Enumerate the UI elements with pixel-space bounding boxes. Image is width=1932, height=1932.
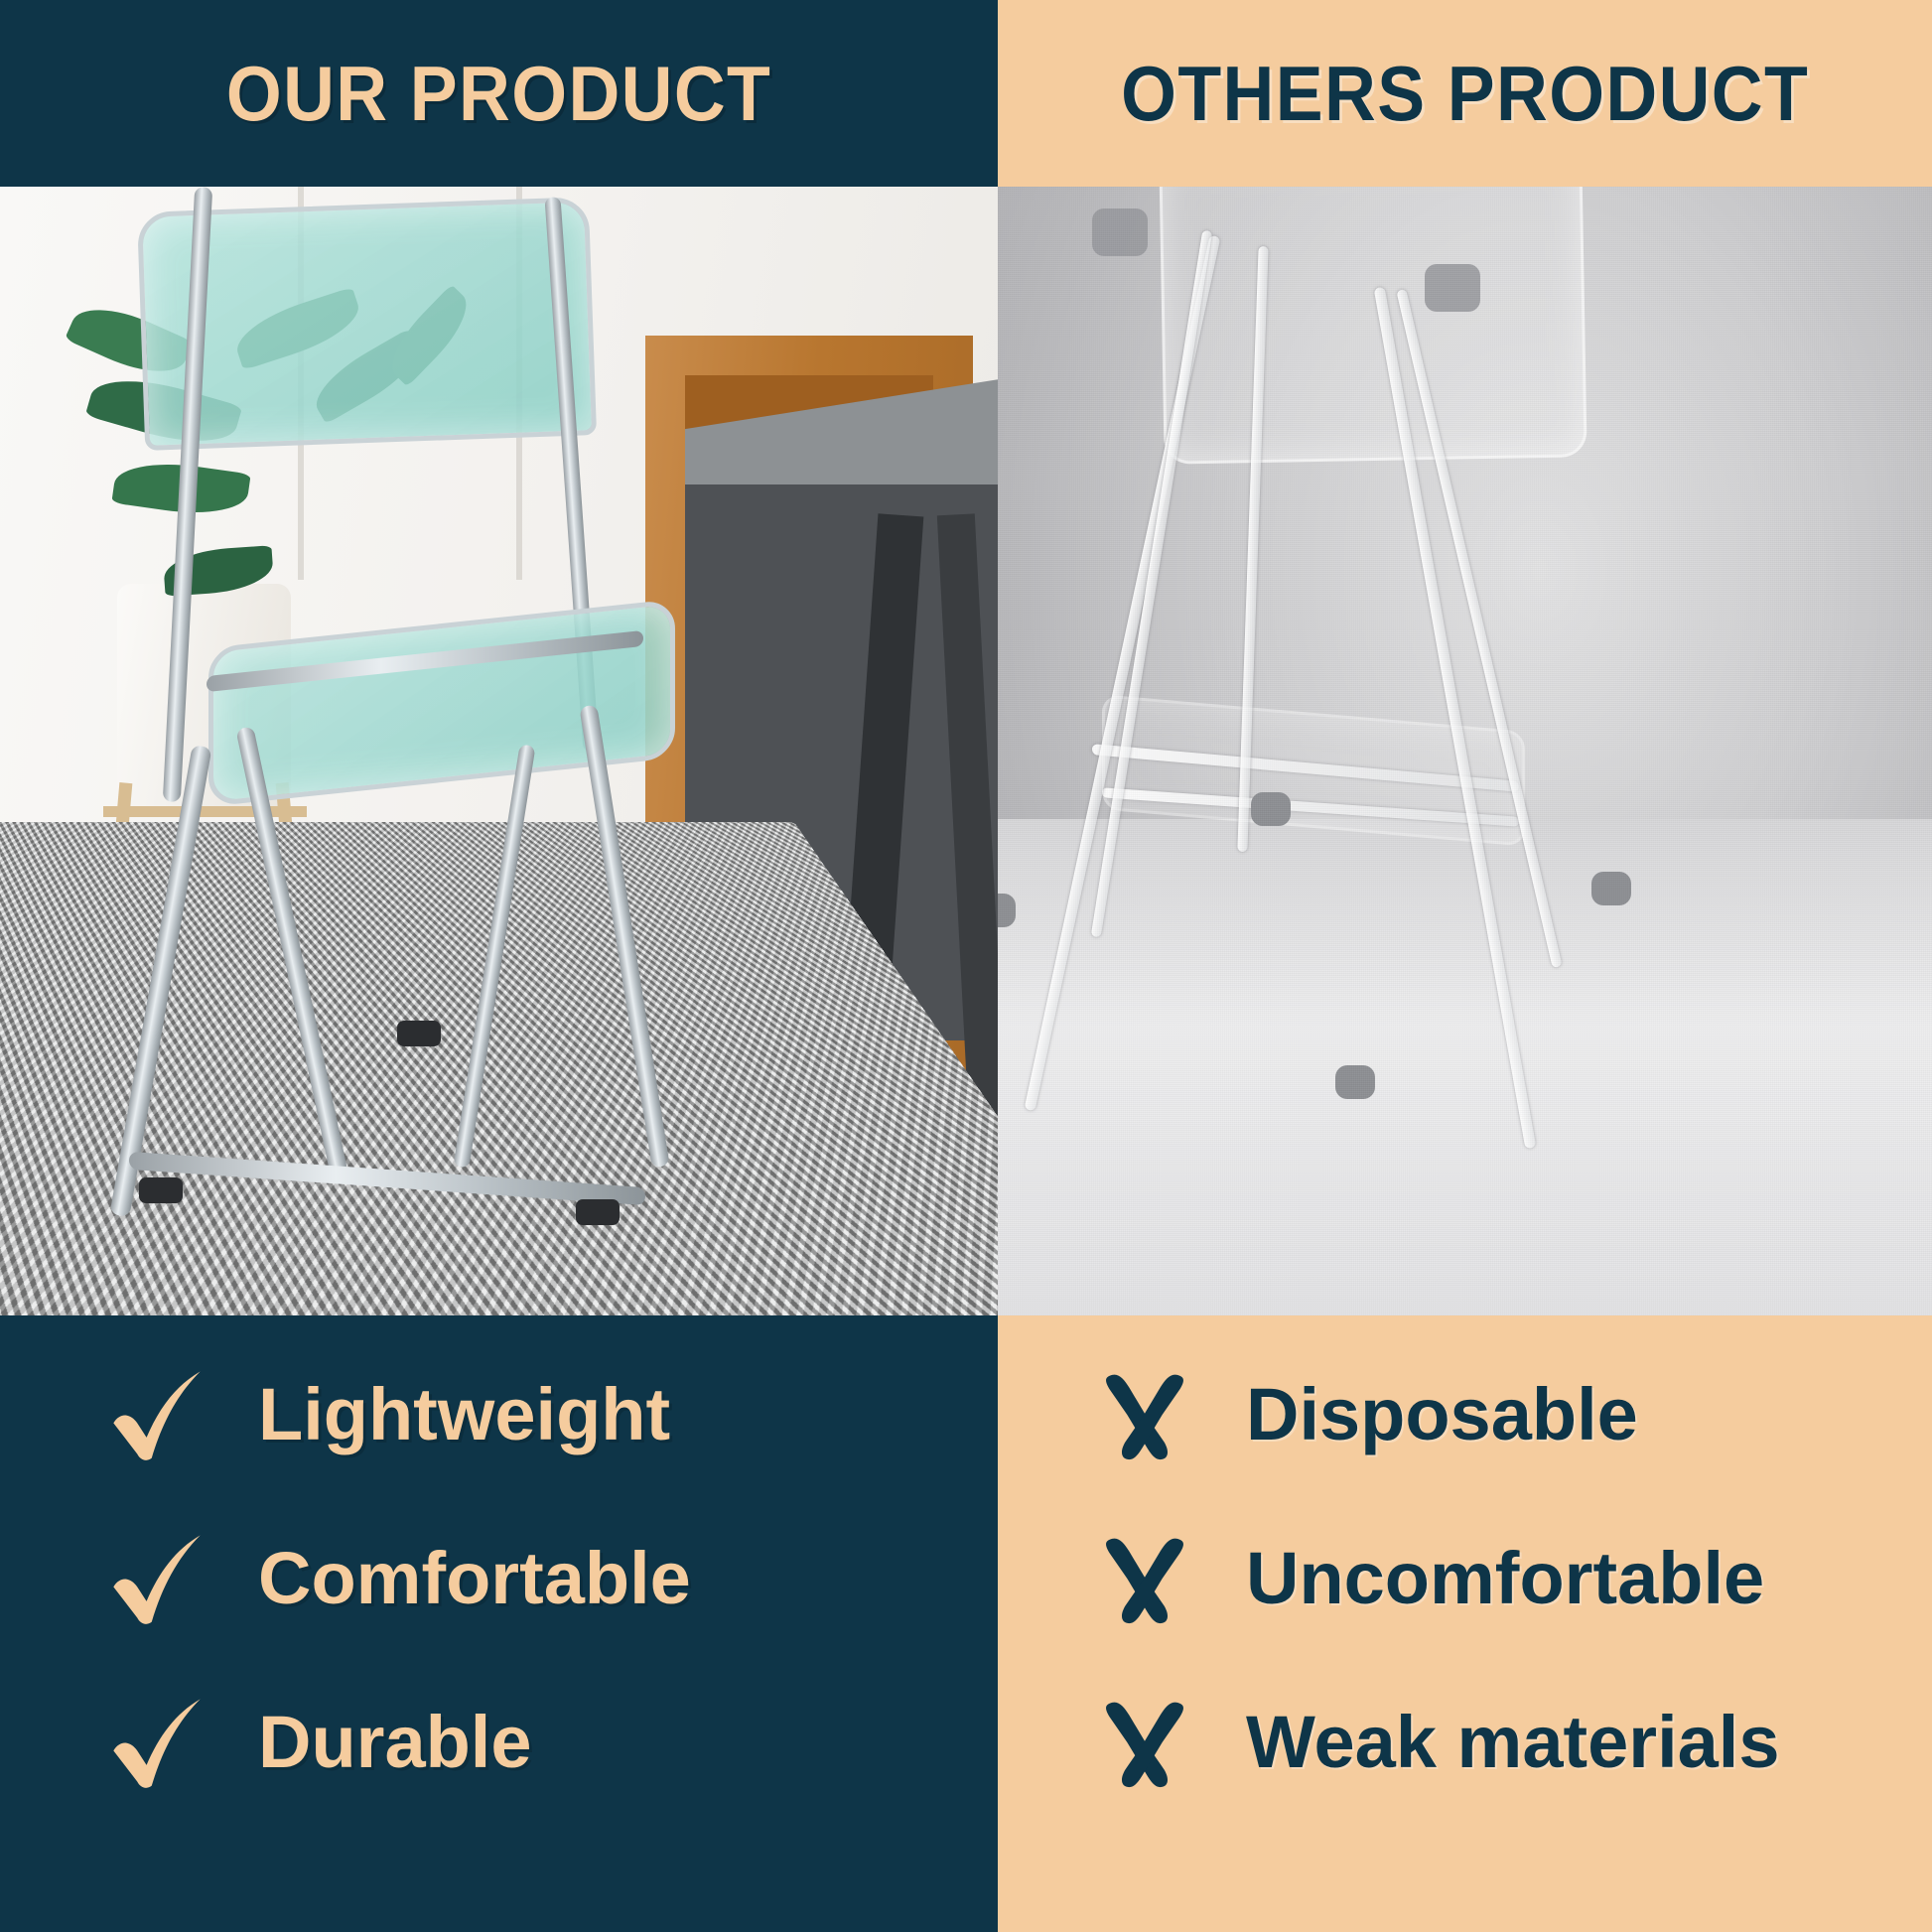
feature-item: Durable [97,1683,532,1802]
check-icon [97,1527,216,1630]
others-product-feature-list: Disposable Uncomfortable [998,1315,1932,1932]
chair-leg [109,745,211,1217]
mint-folding-chair [60,187,774,1315]
feature-item: Disposable [1085,1355,1638,1474]
studio-scene [998,187,1932,1315]
feature-label: Lightweight [258,1378,670,1451]
feature-item: Lightweight [97,1355,670,1474]
feature-label: Weak materials [1246,1706,1780,1779]
room-scene [0,187,998,1315]
check-icon [97,1363,216,1466]
feature-label: Uncomfortable [1246,1542,1764,1615]
cross-icon [1085,1366,1204,1463]
feature-label: Durable [258,1706,532,1779]
chair-leg [579,704,669,1168]
feature-label: Comfortable [258,1542,691,1615]
feature-item: Weak materials [1085,1683,1780,1802]
photo-grain [998,187,1932,1315]
our-product-feature-list: Lightweight Comfortable Durabl [0,1315,998,1932]
chair-foot [397,1021,441,1046]
feature-item: Uncomfortable [1085,1519,1764,1638]
others-product-column: OTHERS PRODUCT [998,0,1932,1932]
feature-label: Disposable [1246,1378,1638,1451]
feature-item: Comfortable [97,1519,691,1638]
others-product-header: OTHERS PRODUCT [998,0,1932,187]
our-product-title: OUR PRODUCT [226,55,771,132]
comparison-infographic: OUR PRODUCT [0,0,1932,1932]
our-product-column: OUR PRODUCT [0,0,998,1932]
our-product-photo [0,187,998,1315]
our-product-header: OUR PRODUCT [0,0,998,187]
others-product-title: OTHERS PRODUCT [1121,55,1809,132]
check-icon [97,1691,216,1794]
chair-foot [139,1177,183,1203]
chair-leg [453,744,535,1168]
cross-icon [1085,1530,1204,1627]
others-product-photo [998,187,1932,1315]
chair-foot [576,1199,620,1225]
cross-icon [1085,1694,1204,1791]
chair-floor-rail [129,1152,645,1205]
